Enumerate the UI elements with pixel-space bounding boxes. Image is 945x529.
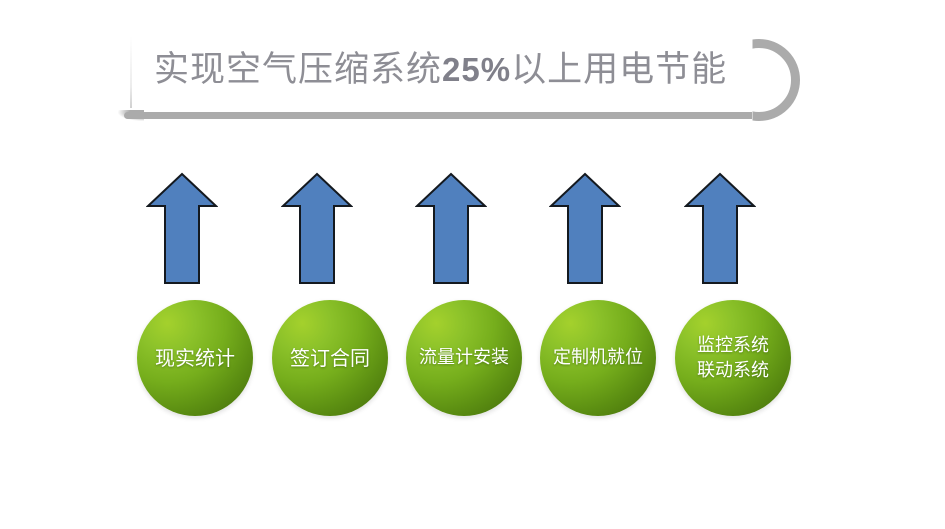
process-node-1[interactable]: 现实统计	[137, 300, 253, 416]
up-arrow-icon-5	[684, 172, 756, 285]
process-node-4[interactable]: 定制机就位	[540, 300, 656, 416]
process-node-label: 签订合同	[258, 345, 402, 371]
process-node-label: 流量计安装	[392, 345, 536, 371]
page-title-prefix: 实现空气压缩系统	[154, 50, 442, 90]
banner-left-stroke	[130, 36, 132, 108]
process-node-5[interactable]: 监控系统 联动系统	[675, 300, 791, 416]
process-node-label: 监控系统 联动系统	[661, 333, 805, 383]
page-title-suffix: 以上用电节能	[511, 50, 727, 90]
process-node-label: 现实统计	[123, 345, 267, 371]
page-title: 实现空气压缩系统25%以上用电节能	[154, 40, 754, 100]
slide-canvas: 实现空气压缩系统25%以上用电节能 现实统计 签订合同	[0, 0, 945, 529]
banner-underline	[124, 112, 752, 119]
up-arrow-icon-3	[415, 172, 487, 285]
up-arrow-icon-1	[146, 172, 218, 285]
up-arrow-icon-2	[281, 172, 353, 285]
up-arrow-icon-4	[549, 172, 621, 285]
page-title-percent: 25%	[442, 51, 511, 88]
banner-underline-taper	[118, 110, 144, 121]
process-node-2[interactable]: 签订合同	[272, 300, 388, 416]
process-node-label: 定制机就位	[526, 345, 670, 371]
process-node-3[interactable]: 流量计安装	[406, 300, 522, 416]
title-banner: 实现空气压缩系统25%以上用电节能	[118, 34, 778, 126]
